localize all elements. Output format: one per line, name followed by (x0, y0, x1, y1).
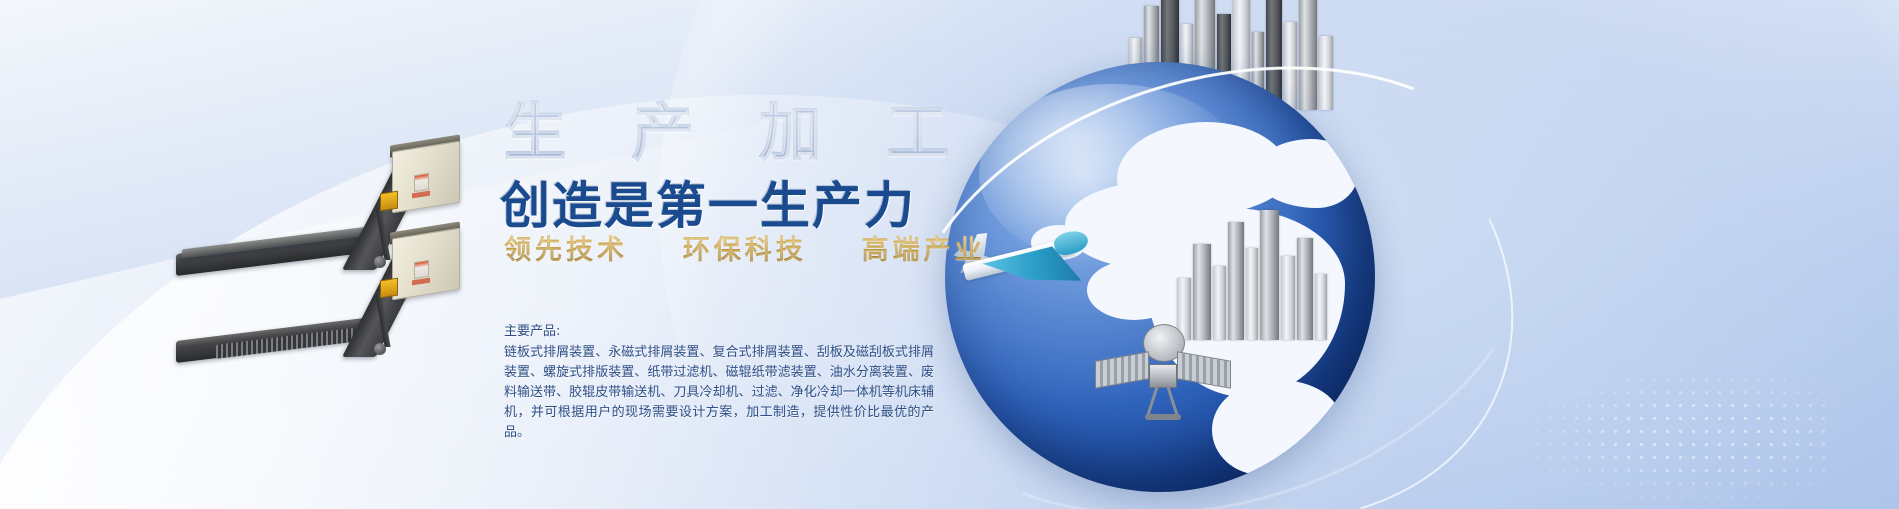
tagline-item-2: 环保科技 (683, 235, 807, 266)
satellite-body (1149, 364, 1177, 388)
satellite-icon (1087, 318, 1237, 438)
satellite-base (1145, 414, 1181, 420)
dot-grid-decoration-right (1505, 360, 1835, 509)
banner-tagline-group: 领先技术 环保科技 高端产业 (504, 228, 986, 267)
satellite-solar-panel-left (1095, 351, 1149, 389)
banner-headline: 生 产 加 工 (504, 82, 971, 172)
conveyor-control-box (380, 191, 398, 212)
conveyor-control-box (380, 278, 398, 299)
satellite-solar-panel-right (1177, 351, 1231, 389)
product-list-label: 主要产品: (504, 322, 934, 342)
product-list-body: 链板式排屑装置、永磁式排屑装置、复合式排屑装置、刮板及磁刮板式排屑装置、螺旋式排… (504, 343, 934, 443)
product-description: 主要产品: 链板式排屑装置、永磁式排屑装置、复合式排屑装置、刮板及磁刮板式排屑装… (504, 322, 934, 443)
conveyor-warning-label (414, 173, 429, 192)
chip-conveyor-lower (176, 225, 476, 375)
tagline-item-1: 领先技术 (504, 235, 628, 266)
globe-scene (905, 0, 1525, 509)
satellite-leg (1166, 384, 1179, 417)
promo-banner: 生 产 加 工 创造是第一生产力 领先技术 环保科技 高端产业 主要产品: 链板… (0, 0, 1899, 509)
conveyor-caster (374, 343, 386, 355)
conveyor-warning-label (414, 260, 429, 279)
satellite-leg (1146, 384, 1159, 417)
tagline-item-3: 高端产业 (862, 235, 986, 266)
